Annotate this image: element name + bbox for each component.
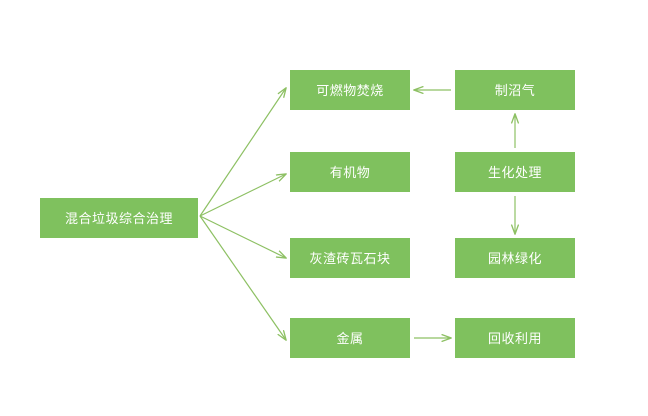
diagram-canvas: 混合垃圾综合治理可燃物焚烧有机物灰渣砖瓦石块金属制沼气生化处理园林绿化回收利用	[0, 0, 648, 416]
node-ash_brick[interactable]: 灰渣砖瓦石块	[290, 238, 410, 278]
node-label-incineration: 可燃物焚烧	[316, 84, 384, 97]
node-landscaping[interactable]: 园林绿化	[455, 238, 575, 278]
node-label-biochem: 生化处理	[488, 166, 542, 179]
node-label-recycling: 回收利用	[488, 332, 542, 345]
node-biochem[interactable]: 生化处理	[455, 152, 575, 192]
node-label-source: 混合垃圾综合治理	[65, 212, 173, 225]
node-label-metal: 金属	[336, 332, 363, 345]
node-label-biogas: 制沼气	[495, 84, 536, 97]
node-recycling[interactable]: 回收利用	[455, 318, 575, 358]
node-source[interactable]: 混合垃圾综合治理	[40, 198, 198, 238]
node-incineration[interactable]: 可燃物焚烧	[290, 70, 410, 110]
node-metal[interactable]: 金属	[290, 318, 410, 358]
edge-source-to-metal	[200, 216, 286, 340]
edge-source-to-ash-brick	[200, 216, 286, 258]
node-label-organic: 有机物	[330, 166, 371, 179]
node-label-ash_brick: 灰渣砖瓦石块	[309, 252, 390, 265]
edges-group	[200, 88, 515, 340]
node-label-landscaping: 园林绿化	[488, 252, 542, 265]
node-biogas[interactable]: 制沼气	[455, 70, 575, 110]
edge-source-to-incineration	[200, 88, 286, 216]
node-organic[interactable]: 有机物	[290, 152, 410, 192]
edge-source-to-organic	[200, 174, 286, 216]
